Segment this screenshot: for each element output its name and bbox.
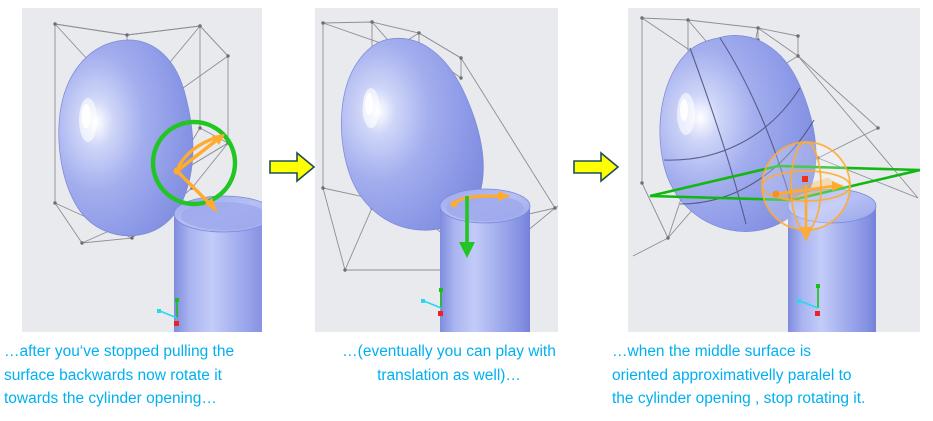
caption-step-3: …when the middle surface is oriented app…	[612, 340, 933, 411]
3d-scene-1	[22, 8, 262, 332]
cylinder[interactable]	[440, 189, 530, 332]
caption-step-1: …after you‘ve stopped pulling the surfac…	[4, 340, 304, 411]
arrow-right-icon	[572, 150, 620, 184]
viewport-panel-3[interactable]	[628, 8, 920, 332]
free-form-surface[interactable]	[59, 40, 193, 236]
next-step-arrow-2	[572, 150, 620, 184]
viewport-panel-1[interactable]	[22, 8, 262, 332]
3d-scene-3	[628, 8, 920, 332]
arrow-right-icon	[268, 150, 316, 184]
viewport-panel-2[interactable]	[315, 8, 558, 332]
next-step-arrow-1	[268, 150, 316, 184]
cylinder[interactable]	[174, 196, 262, 332]
3d-scene-2	[315, 8, 558, 332]
axis-triad	[421, 288, 443, 316]
tutorial-stage: …after you‘ve stopped pulling the surfac…	[0, 0, 933, 421]
caption-step-2: …(eventually you can play with translati…	[318, 340, 580, 387]
